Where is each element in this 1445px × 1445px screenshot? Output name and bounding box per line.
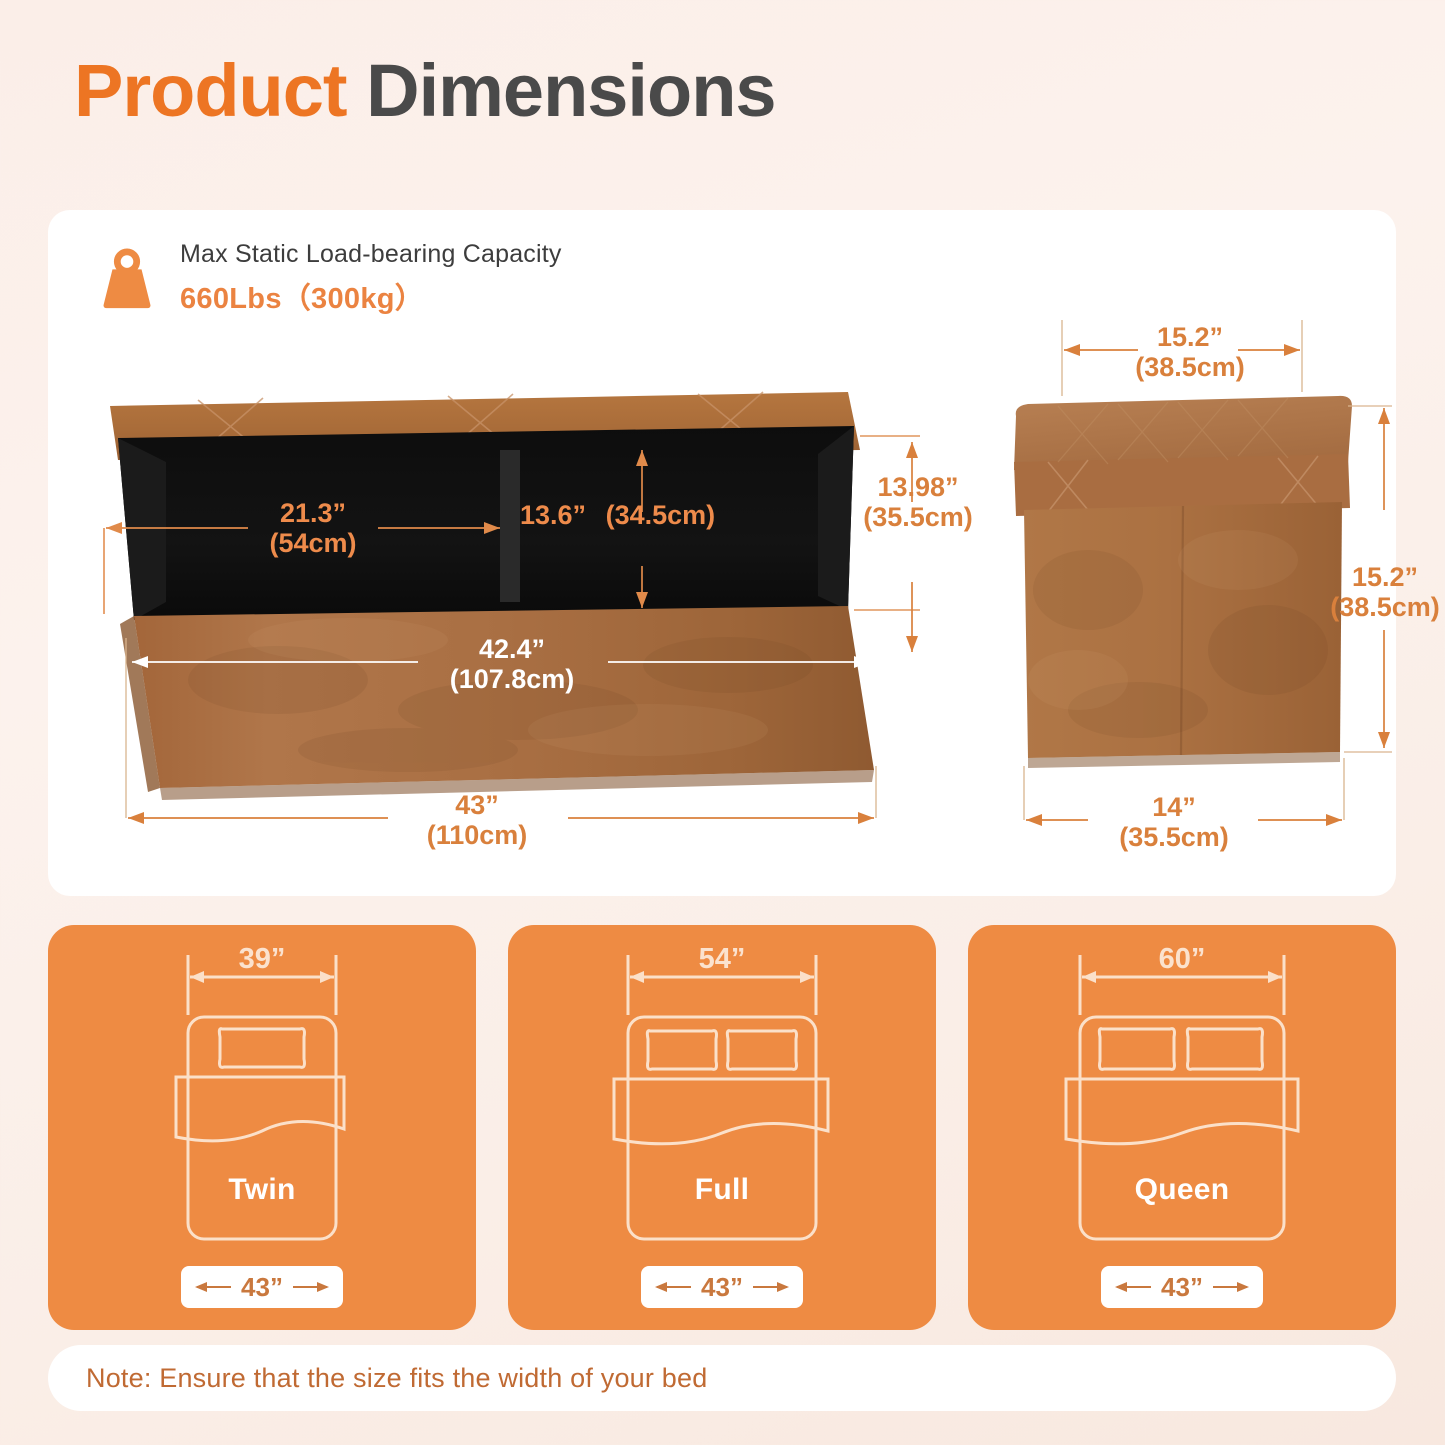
open-bench-graphic xyxy=(110,392,874,800)
bed-card-twin[interactable]: 39” Twin xyxy=(48,925,476,1330)
ottoman-top-width-label: 15.2” (38.5cm) xyxy=(1130,322,1250,382)
bed-card-full[interactable]: 54” Full xyxy=(508,925,936,1330)
ottoman-base-depth-label: 14” (35.5cm) xyxy=(1084,792,1264,852)
dimensions-card: Max Static Load-bearing Capacity 660Lbs（… xyxy=(48,210,1396,896)
bed-name-twin: Twin xyxy=(48,1173,476,1207)
bed-size-cards: 39” Twin xyxy=(48,925,1396,1330)
product-width-pill-twin: 43” xyxy=(181,1266,343,1308)
page-title-accent: Product xyxy=(74,49,347,132)
bed-name-full: Full xyxy=(508,1173,936,1207)
closed-ottoman-graphic xyxy=(1014,396,1352,768)
note-text: Note: Ensure that the size fits the widt… xyxy=(86,1363,707,1394)
product-width-text-twin: 43” xyxy=(231,1272,293,1303)
overall-length-label: 43” (110cm) xyxy=(382,790,572,850)
body-length-label: 42.4” (107.8cm) xyxy=(412,634,612,694)
product-width-text-queen: 43” xyxy=(1151,1272,1213,1303)
ottoman-height-label: 15.2” (38.5cm) xyxy=(1310,562,1445,622)
product-illustration: 21.3” (54cm) 13.6” (34.5cm) 13.98” (35.5… xyxy=(48,210,1396,896)
bed-card-queen[interactable]: 60” Queen xyxy=(968,925,1396,1330)
interior-width-label: 21.3” (54cm) xyxy=(248,498,378,558)
product-width-text-full: 43” xyxy=(691,1272,753,1303)
product-width-pill-queen: 43” xyxy=(1101,1266,1263,1308)
interior-depth-label: 13.6” (34.5cm) xyxy=(520,500,760,530)
note-bar: Note: Ensure that the size fits the widt… xyxy=(48,1345,1396,1411)
bed-name-queen: Queen xyxy=(968,1173,1396,1207)
interior-height-label: 13.98” (35.5cm) xyxy=(848,472,988,532)
page-title: Product Dimensions xyxy=(74,54,776,128)
page-title-main: Dimensions xyxy=(366,49,775,132)
product-width-pill-full: 43” xyxy=(641,1266,803,1308)
